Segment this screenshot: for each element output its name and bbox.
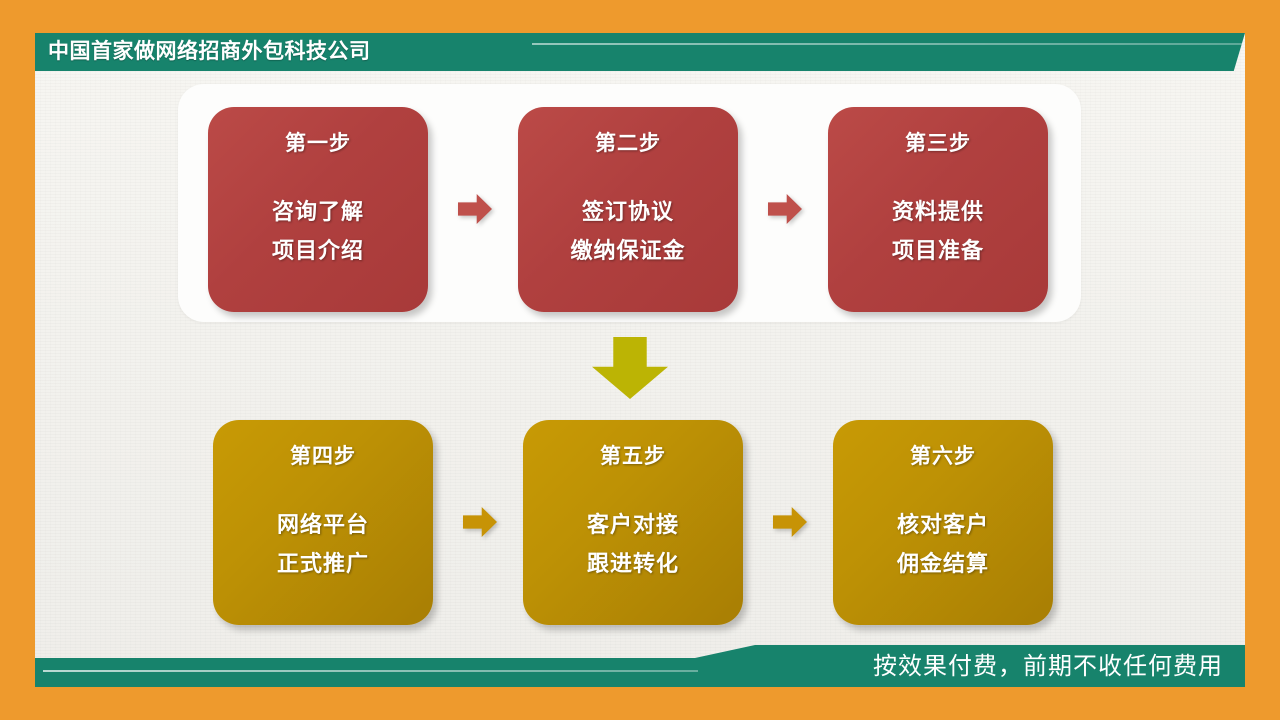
footer-text: 按效果付费，前期不收任何费用 bbox=[873, 645, 1223, 687]
step-card-line-1: 签订协议 bbox=[528, 193, 728, 232]
step-card-title: 第五步 bbox=[533, 440, 733, 470]
header-notch-shape bbox=[495, 33, 1245, 71]
step-card-1[interactable]: 第一步 咨询了解 项目介绍 bbox=[208, 107, 428, 312]
step-card-title: 第二步 bbox=[528, 127, 728, 157]
arrow-right-shape bbox=[768, 194, 802, 224]
step-card-line-2: 项目介绍 bbox=[218, 232, 418, 271]
arrow-right-shape bbox=[463, 507, 497, 537]
step-card-line-2: 佣金结算 bbox=[843, 545, 1043, 584]
step-card-line-1: 核对客户 bbox=[843, 506, 1043, 545]
arrow-right-icon bbox=[463, 507, 497, 537]
footer-hairline bbox=[43, 670, 698, 672]
step-card-line-1: 咨询了解 bbox=[218, 193, 418, 232]
arrow-right-icon bbox=[768, 194, 802, 224]
step-card-title: 第四步 bbox=[223, 440, 423, 470]
step-card-title: 第一步 bbox=[218, 127, 418, 157]
step-card-6[interactable]: 第六步 核对客户 佣金结算 bbox=[833, 420, 1053, 625]
step-card-2[interactable]: 第二步 签订协议 缴纳保证金 bbox=[518, 107, 738, 312]
arrow-right-icon bbox=[458, 194, 492, 224]
step-card-line-2: 跟进转化 bbox=[533, 545, 733, 584]
arrow-down-shape bbox=[592, 337, 668, 399]
step-card-5[interactable]: 第五步 客户对接 跟进转化 bbox=[523, 420, 743, 625]
step-card-line-2: 缴纳保证金 bbox=[528, 232, 728, 271]
step-card-4[interactable]: 第四步 网络平台 正式推广 bbox=[213, 420, 433, 625]
step-card-title: 第三步 bbox=[838, 127, 1038, 157]
arrow-down-icon bbox=[592, 337, 668, 399]
step-card-line-1: 客户对接 bbox=[533, 506, 733, 545]
step-card-title: 第六步 bbox=[843, 440, 1043, 470]
arrow-right-shape bbox=[458, 194, 492, 224]
header-title: 中国首家做网络招商外包科技公司 bbox=[48, 33, 371, 71]
step-card-line-2: 项目准备 bbox=[838, 232, 1038, 271]
step-card-line-1: 网络平台 bbox=[223, 506, 423, 545]
arrow-right-shape bbox=[773, 507, 807, 537]
footer-bar: 按效果付费，前期不收任何费用 bbox=[35, 645, 1245, 687]
step-card-3[interactable]: 第三步 资料提供 项目准备 bbox=[828, 107, 1048, 312]
step-card-line-2: 正式推广 bbox=[223, 545, 423, 584]
header-hairline bbox=[532, 43, 1242, 45]
step-card-line-1: 资料提供 bbox=[838, 193, 1038, 232]
slide: 中国首家做网络招商外包科技公司 第一步 咨询了解 项目介绍 第二步 签订协议 缴… bbox=[0, 0, 1280, 720]
arrow-right-icon bbox=[773, 507, 807, 537]
